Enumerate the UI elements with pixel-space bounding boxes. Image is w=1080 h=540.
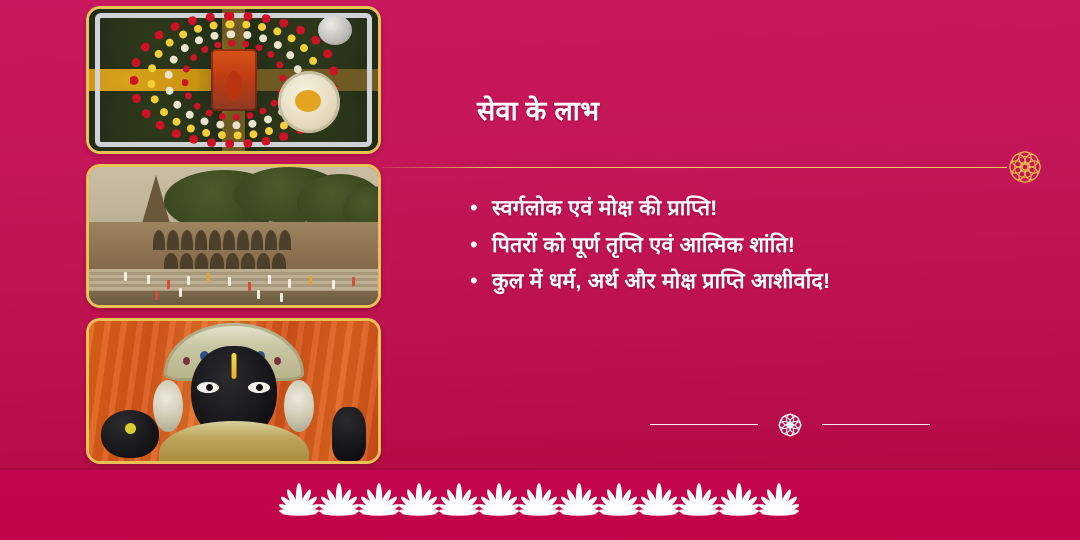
list-item-label: स्वर्गलोक एवं मोक्ष की प्राप्ति! [492,193,718,224]
lotus-icon [679,483,719,517]
lotus-icon [559,483,599,517]
lotus-icon [399,483,439,517]
list-item: • कुल में धर्म, अर्थ और मोक्ष प्राप्ति आ… [470,266,1030,297]
list-item: • स्वर्गलोक एवं मोक्ष की प्राप्ति! [470,193,1030,224]
gold-divider-line [382,167,1007,168]
mandala-rosette-icon [1003,145,1047,189]
lotus-icon [279,483,319,517]
section-divider [650,414,930,436]
divider-line-left [650,424,758,425]
list-item-label: कुल में धर्म, अर्थ और मोक्ष प्राप्ति आशी… [492,266,830,297]
deity-idol-photo [86,318,381,464]
lotus-rosette-icon [776,411,804,439]
benefits-list: • स्वर्गलोक एवं मोक्ष की प्राप्ति! • पित… [470,193,1030,303]
lotus-icon [359,483,399,517]
photo-2-artwork [89,167,378,305]
slide-title: सेवा के लाभ [477,91,599,128]
floral-puja-thali-photo [86,6,381,154]
divider-line-right [822,424,930,425]
lotus-border-pattern [279,483,801,517]
photo-1-artwork [89,9,378,151]
lotus-icon [719,483,759,517]
photo-3-artwork [89,321,378,461]
bullet-marker: • [470,197,492,219]
lotus-icon [599,483,639,517]
lotus-icon [479,483,519,517]
lotus-icon [519,483,559,517]
lotus-icon [639,483,679,517]
lotus-icon [439,483,479,517]
lotus-icon [759,483,799,517]
bullet-marker: • [470,270,492,292]
list-item-label: पितरों को पूर्ण तृप्ति एवं आत्मिक शांति! [492,230,795,261]
bullet-marker: • [470,234,492,256]
list-item: • पितरों को पूर्ण तृप्ति एवं आत्मिक शांत… [470,230,1030,261]
riverside-ghat-temple-photo [86,164,381,308]
lotus-icon [319,483,359,517]
slide-canvas: सेवा के लाभ [0,0,1080,540]
